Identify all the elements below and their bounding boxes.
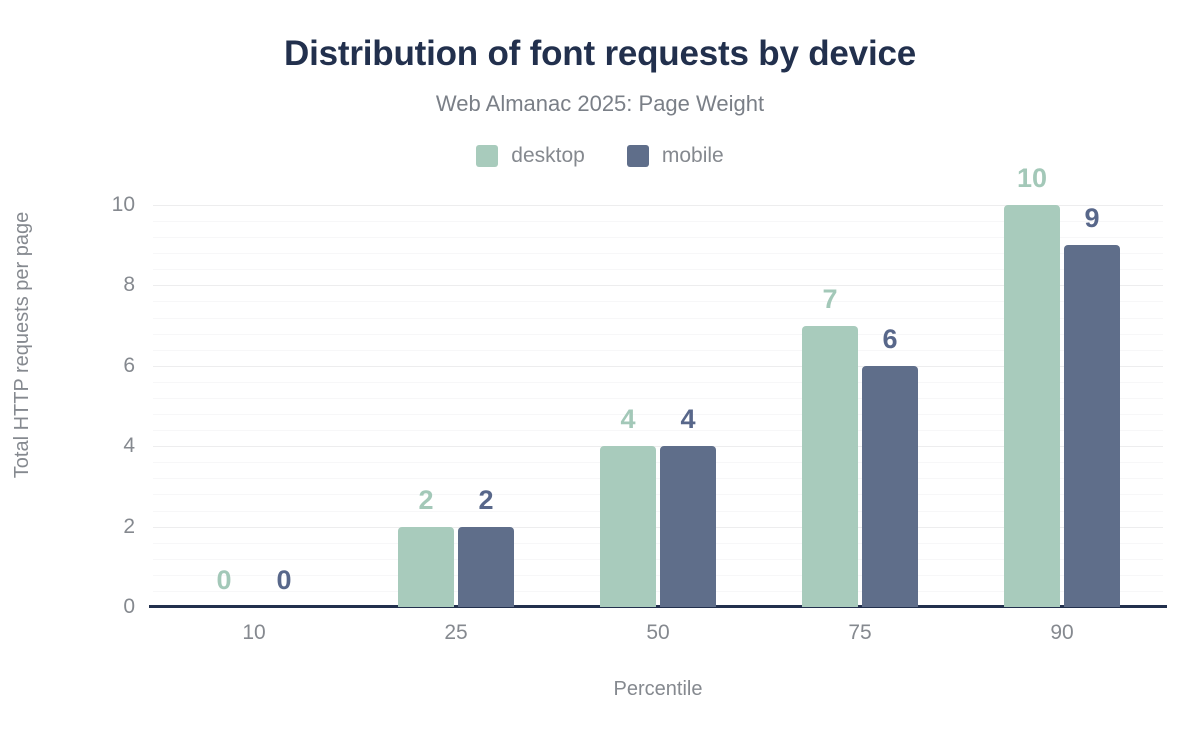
bar-mobile[interactable] (862, 366, 918, 607)
bar-desktop[interactable] (1004, 205, 1060, 607)
bar-desktop[interactable] (600, 446, 656, 607)
x-axis-title: Percentile (153, 676, 1163, 702)
x-tick-label: 75 (759, 618, 961, 652)
chart-container: Distribution of font requests by device … (0, 0, 1200, 742)
bar-group: 22 (355, 130, 557, 607)
bar-mobile[interactable] (458, 527, 514, 607)
bar-slot-desktop: 4 (600, 130, 656, 607)
bar-mobile[interactable] (660, 446, 716, 607)
bar-desktop[interactable] (802, 326, 858, 607)
bar-slot-mobile: 0 (256, 130, 312, 607)
bar-value-label: 4 (660, 404, 716, 434)
bar-slot-desktop: 10 (1004, 130, 1060, 607)
bar-value-label: 2 (458, 485, 514, 515)
x-tick-label: 90 (961, 618, 1163, 652)
bar-desktop[interactable] (398, 527, 454, 607)
y-axis-title: Total HTTP requests per page (10, 115, 34, 575)
x-tick-label: 25 (355, 618, 557, 652)
x-tick-label: 10 (153, 618, 355, 652)
bar-value-label: 9 (1064, 203, 1120, 233)
bar-slot-desktop: 7 (802, 130, 858, 607)
bar-value-label: 4 (600, 404, 656, 434)
x-tick-label: 50 (557, 618, 759, 652)
bar-value-label: 10 (1004, 163, 1060, 193)
bar-group: 00 (153, 130, 355, 607)
bar-value-label: 0 (196, 565, 252, 595)
bar-slot-mobile: 9 (1064, 130, 1120, 607)
bar-group: 76 (759, 130, 961, 607)
bar-group: 109 (961, 130, 1163, 607)
bar-slot-desktop: 2 (398, 130, 454, 607)
bar-slot-mobile: 4 (660, 130, 716, 607)
bars-layer: 00224476109 (153, 130, 1163, 607)
bar-value-label: 0 (256, 565, 312, 595)
chart-subtitle: Web Almanac 2025: Page Weight (0, 90, 1200, 118)
bar-mobile[interactable] (1064, 245, 1120, 607)
bar-slot-desktop: 0 (196, 130, 252, 607)
bar-value-label: 2 (398, 485, 454, 515)
bar-value-label: 6 (862, 324, 918, 354)
y-tick-label: 0 (0, 596, 135, 617)
chart-title: Distribution of font requests by device (0, 33, 1200, 75)
bar-group: 44 (557, 130, 759, 607)
bar-slot-mobile: 6 (862, 130, 918, 607)
x-axis-ticks: 1025507590 (153, 618, 1163, 652)
bar-slot-mobile: 2 (458, 130, 514, 607)
bar-value-label: 7 (802, 284, 858, 314)
